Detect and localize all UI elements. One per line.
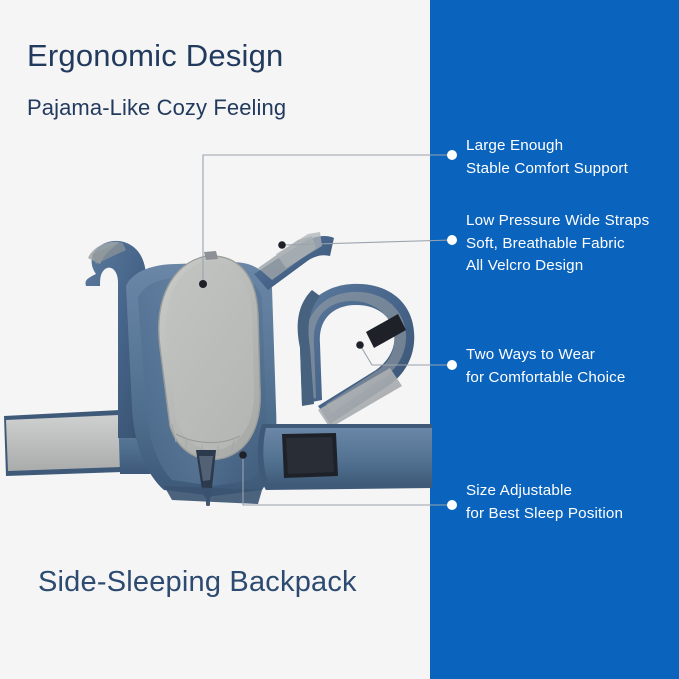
leader-line-large-enough	[199, 150, 457, 288]
page-title: Ergonomic Design	[27, 38, 283, 74]
callout-line: Soft, Breathable Fabric	[466, 233, 649, 256]
callout-large-enough: Large Enough Stable Comfort Support	[466, 135, 628, 180]
product-name-title: Side-Sleeping Backpack	[38, 566, 357, 599]
callout-line: All Velcro Design	[466, 255, 649, 278]
callout-two-ways-to-wear: Two Ways to Wear for Comfortable Choice	[466, 344, 625, 389]
callout-line: Stable Comfort Support	[466, 158, 628, 181]
leader-line-size-adjustable	[239, 451, 457, 510]
infographic-canvas: Ergonomic Design Pajama-Like Cozy Feelin…	[0, 0, 679, 679]
callout-low-pressure-wide-straps: Low Pressure Wide Straps Soft, Breathabl…	[466, 210, 649, 278]
callout-line: for Best Sleep Position	[466, 503, 623, 526]
callout-line: Size Adjustable	[466, 480, 623, 503]
callout-line: for Comfortable Choice	[466, 367, 625, 390]
callout-line: Low Pressure Wide Straps	[466, 210, 649, 233]
callout-size-adjustable: Size Adjustable for Best Sleep Position	[466, 480, 623, 525]
leader-line-low-pressure	[278, 235, 457, 249]
callout-line: Two Ways to Wear	[466, 344, 625, 367]
callout-line: Large Enough	[466, 135, 628, 158]
leader-line-two-ways	[356, 341, 457, 370]
page-subtitle: Pajama-Like Cozy Feeling	[27, 95, 286, 121]
